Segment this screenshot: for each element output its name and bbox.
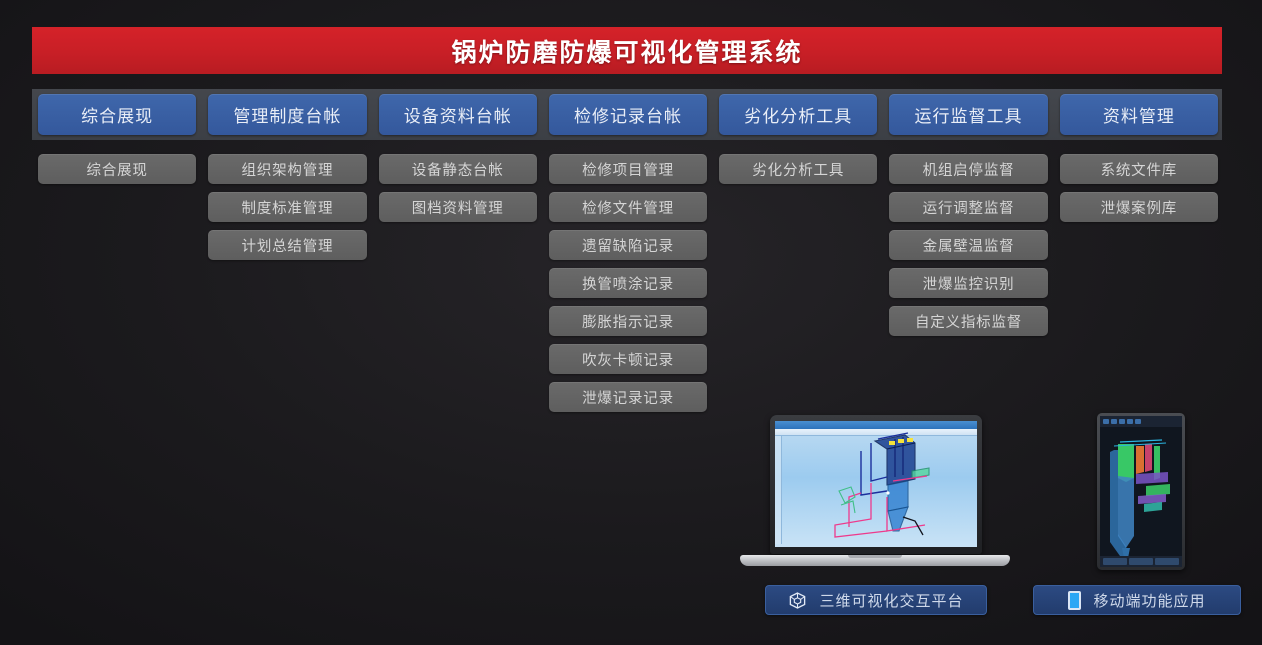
tab-shebeiziliaotaizhang[interactable]: 设备资料台帐 xyxy=(379,94,537,135)
menu-item-label: 机组启停监督 xyxy=(923,159,1015,180)
title-banner: 锅炉防磨防爆可视化管理系统 xyxy=(32,27,1222,74)
tab-label: 设备资料台帐 xyxy=(404,102,512,127)
menu-item-label: 图档资料管理 xyxy=(412,197,504,218)
3d-platform-button-label: 三维可视化交互平台 xyxy=(819,590,963,611)
menu-item[interactable]: 吹灰卡顿记录 xyxy=(549,344,707,374)
menu-item-label: 组织架构管理 xyxy=(242,159,334,180)
menu-item-label: 系统文件库 xyxy=(1101,159,1178,180)
menu-item[interactable]: 遗留缺陷记录 xyxy=(549,230,707,260)
mobile-phone-icon xyxy=(1068,591,1081,610)
menu-item[interactable]: 运行调整监督 xyxy=(889,192,1047,222)
mobile-device-mockup xyxy=(1097,413,1185,570)
menu-item-label: 计划总结管理 xyxy=(242,235,334,256)
menu-item[interactable]: 检修项目管理 xyxy=(549,154,707,184)
tab-ziliaoguanli[interactable]: 资料管理 xyxy=(1060,94,1218,135)
tab-label: 劣化分析工具 xyxy=(744,102,852,127)
tab-zonghezhanxian[interactable]: 综合展现 xyxy=(38,94,196,135)
menu-item-label: 检修项目管理 xyxy=(582,159,674,180)
menu-item[interactable]: 膨胀指示记录 xyxy=(549,306,707,336)
tab-liehuafenxigongju[interactable]: 劣化分析工具 xyxy=(719,94,877,135)
menu-item-label: 自定义指标监督 xyxy=(915,311,1022,332)
laptop-base xyxy=(740,555,1010,566)
toolbar-button[interactable] xyxy=(1103,558,1127,565)
menu-item[interactable]: 泄爆记录记录 xyxy=(549,382,707,412)
menu-item-label: 吹灰卡顿记录 xyxy=(582,349,674,370)
cube-3d-icon xyxy=(788,591,807,610)
toolbar-button[interactable] xyxy=(1155,558,1179,565)
laptop-lid xyxy=(770,415,982,554)
menu-item[interactable]: 设备静态台帐 xyxy=(379,154,537,184)
menu-item[interactable]: 换管喷涂记录 xyxy=(549,268,707,298)
menu-item-label: 膨胀指示记录 xyxy=(582,311,674,332)
menu-column-3: 设备静态台帐 图档资料管理 xyxy=(379,154,537,412)
menu-item-label: 泄爆记录记录 xyxy=(582,387,674,408)
toolbar-button[interactable] xyxy=(1129,558,1153,565)
3d-platform-button[interactable]: 三维可视化交互平台 xyxy=(765,585,987,615)
menu-column-7: 系统文件库 泄爆案例库 xyxy=(1060,154,1218,412)
menu-item[interactable]: 自定义指标监督 xyxy=(889,306,1047,336)
menu-item-label: 设备静态台帐 xyxy=(412,159,504,180)
menu-item[interactable]: 检修文件管理 xyxy=(549,192,707,222)
tab-jianxiujilutaizhang[interactable]: 检修记录台帐 xyxy=(549,94,707,135)
tab-label: 管理制度台帐 xyxy=(233,102,341,127)
mobile-screen-3d-boiler-model xyxy=(1100,416,1182,567)
menu-item[interactable]: 金属壁温监督 xyxy=(889,230,1047,260)
mobile-app-button[interactable]: 移动端功能应用 xyxy=(1033,585,1241,615)
menu-item-label: 运行调整监督 xyxy=(923,197,1015,218)
mobile-bottom-toolbar xyxy=(1100,556,1182,567)
laptop-screen-3d-boiler-model xyxy=(775,421,977,547)
menu-item-label: 综合展现 xyxy=(87,159,148,180)
menu-item[interactable]: 制度标准管理 xyxy=(208,192,366,222)
menu-item[interactable]: 图档资料管理 xyxy=(379,192,537,222)
laptop-mockup xyxy=(740,412,1010,572)
menu-item[interactable]: 泄爆监控识别 xyxy=(889,268,1047,298)
tab-label: 检修记录台帐 xyxy=(574,102,682,127)
menu-item-label: 泄爆监控识别 xyxy=(923,273,1015,294)
app-root: 锅炉防磨防爆可视化管理系统 综合展现 管理制度台帐 设备资料台帐 检修记录台帐 … xyxy=(0,0,1262,645)
menu-column-1: 综合展现 xyxy=(38,154,196,412)
menu-column-5: 劣化分析工具 xyxy=(719,154,877,412)
menu-item-label: 劣化分析工具 xyxy=(752,159,844,180)
laptop-trackpad-notch xyxy=(848,555,902,558)
menu-item[interactable]: 劣化分析工具 xyxy=(719,154,877,184)
tab-label: 运行监督工具 xyxy=(915,102,1023,127)
menu-item[interactable]: 机组启停监督 xyxy=(889,154,1047,184)
menu-item[interactable]: 系统文件库 xyxy=(1060,154,1218,184)
tab-label: 综合展现 xyxy=(81,102,153,127)
tab-yunxingjiandugongju[interactable]: 运行监督工具 xyxy=(889,94,1047,135)
menu-item[interactable]: 计划总结管理 xyxy=(208,230,366,260)
menu-item[interactable]: 综合展现 xyxy=(38,154,196,184)
menu-column-4: 检修项目管理 检修文件管理 遗留缺陷记录 换管喷涂记录 膨胀指示记录 吹灰卡顿记… xyxy=(549,154,707,412)
menu-item-label: 遗留缺陷记录 xyxy=(582,235,674,256)
menu-columns: 综合展现 组织架构管理 制度标准管理 计划总结管理 设备静态台帐 图档资料管理 … xyxy=(38,154,1218,412)
tab-guanlizhidutaizhang[interactable]: 管理制度台帐 xyxy=(208,94,366,135)
menu-item[interactable]: 组织架构管理 xyxy=(208,154,366,184)
device-button-bar: 三维可视化交互平台 移动端功能应用 xyxy=(0,585,1262,617)
mobile-app-button-label: 移动端功能应用 xyxy=(1093,590,1205,611)
mobile-boiler-graphic xyxy=(1100,416,1182,567)
menu-item-label: 换管喷涂记录 xyxy=(582,273,674,294)
menu-item[interactable]: 泄爆案例库 xyxy=(1060,192,1218,222)
menu-column-2: 组织架构管理 制度标准管理 计划总结管理 xyxy=(208,154,366,412)
menu-item-label: 金属壁温监督 xyxy=(923,235,1015,256)
menu-item-label: 制度标准管理 xyxy=(242,197,334,218)
page-title: 锅炉防磨防爆可视化管理系统 xyxy=(451,33,802,69)
boiler-wireframe-graphic xyxy=(775,421,977,547)
primary-tab-row: 综合展现 管理制度台帐 设备资料台帐 检修记录台帐 劣化分析工具 运行监督工具 … xyxy=(38,94,1218,135)
tab-label: 资料管理 xyxy=(1103,102,1175,127)
menu-item-label: 泄爆案例库 xyxy=(1101,197,1178,218)
menu-item-label: 检修文件管理 xyxy=(582,197,674,218)
menu-column-6: 机组启停监督 运行调整监督 金属壁温监督 泄爆监控识别 自定义指标监督 xyxy=(889,154,1047,412)
